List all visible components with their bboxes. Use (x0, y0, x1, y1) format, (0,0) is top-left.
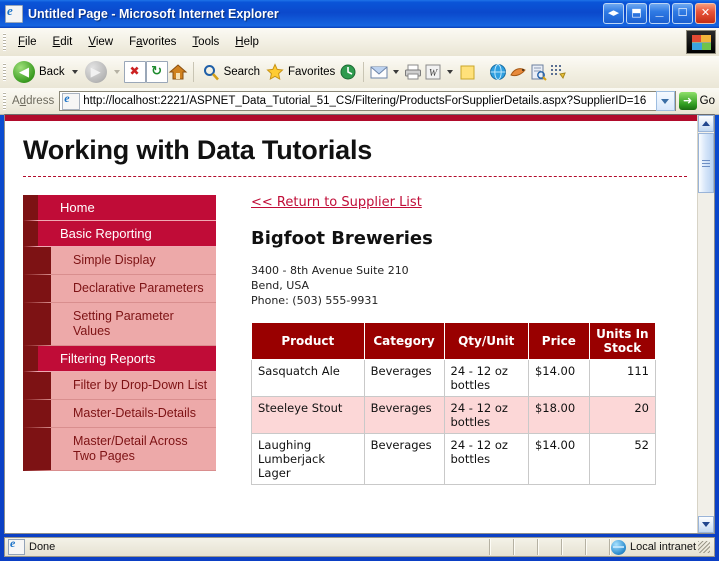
products-table-head: Product Category Qty/Unit Price Units In… (252, 323, 656, 360)
supplier-name-heading: Bigfoot Breweries (251, 228, 656, 249)
sidebar-item-setting-parameter-values[interactable]: Setting Parameter Values (23, 303, 216, 346)
products-table-body: Sasquatch Ale Beverages 24 - 12 oz bottl… (252, 360, 656, 485)
status-bar: Done Local intranet (4, 537, 715, 557)
address-input[interactable]: http://localhost:2221/ASPNET_Data_Tutori… (59, 91, 675, 111)
sidebar-item-master-detail-across-two-pages[interactable]: Master/Detail Across Two Pages (23, 428, 216, 471)
sidebar-item-master-details-details[interactable]: Master-Details-Details (23, 400, 216, 428)
history-button[interactable] (338, 62, 358, 82)
column-header-product: Product (252, 323, 365, 360)
thumb-grip-icon (702, 160, 710, 167)
page-top-accent-bar (5, 115, 699, 121)
cell-category: Beverages (364, 434, 444, 485)
resize-grip[interactable] (698, 541, 710, 553)
column-header-units-in-stock: Units In Stock (589, 323, 655, 360)
status-divider (585, 539, 587, 555)
cell-units: 20 (589, 397, 655, 434)
forward-button[interactable]: ▶ (82, 59, 110, 85)
supplier-city-country: Bend, USA (251, 278, 656, 293)
cell-qty-unit: 24 - 12 oz bottles (444, 397, 528, 434)
toolbar-separator (193, 62, 194, 82)
print-icon (403, 62, 423, 82)
return-to-supplier-list-link[interactable]: << Return to Supplier List (251, 195, 422, 210)
scrollbar-track[interactable] (698, 193, 714, 515)
menu-favorites[interactable]: Favorites (121, 33, 184, 51)
menu-bar: FFileile Edit View Favorites Tools Help (0, 28, 719, 57)
mail-dropdown-icon[interactable] (393, 70, 399, 74)
scroll-down-button[interactable] (698, 516, 714, 533)
search-icon (202, 63, 220, 81)
toolbar-grip-handle[interactable] (3, 63, 6, 81)
ie-page-icon (8, 539, 25, 555)
cell-product: Steeleye Stout (252, 397, 365, 434)
msn-globe-icon (488, 62, 508, 82)
status-divider (537, 539, 539, 555)
column-header-qty-unit: Qty/Unit (444, 323, 528, 360)
window-title: Untitled Page - Microsoft Internet Explo… (28, 7, 279, 21)
mail-button[interactable] (369, 62, 389, 82)
sidebar-navigation: Home Basic Reporting Simple Display Decl… (23, 195, 231, 485)
search-button-label: Search (224, 66, 260, 78)
standard-toolbar: ◀ Back ▶ ✖ ↻ Search (0, 56, 719, 89)
scrollbar-thumb[interactable] (698, 133, 714, 193)
sidebar-item-basic-reporting[interactable]: Basic Reporting (23, 221, 216, 247)
address-dropdown-button[interactable] (656, 91, 675, 111)
discuss-icon (548, 62, 568, 82)
mail-icon (369, 62, 389, 82)
favorites-button[interactable]: Favorites (263, 59, 338, 85)
title-bar: Untitled Page - Microsoft Internet Explo… (0, 0, 719, 28)
maximize-icon: ☐ (673, 4, 692, 23)
stop-icon: ✖ (125, 62, 145, 82)
back-icon: ◀ (13, 61, 35, 83)
research-button[interactable] (528, 62, 548, 82)
ie-animated-logo (686, 30, 716, 54)
notes-button[interactable] (457, 62, 477, 82)
minimize-icon: _ (650, 4, 669, 23)
cell-category: Beverages (364, 360, 444, 397)
forward-icon: ▶ (85, 61, 107, 83)
edit-word-icon: W (423, 62, 443, 82)
address-url-text: http://localhost:2221/ASPNET_Data_Tutori… (83, 95, 646, 107)
chevron-up-icon (702, 121, 710, 126)
research-icon (528, 62, 548, 82)
cell-units: 52 (589, 434, 655, 485)
edit-dropdown-icon[interactable] (447, 70, 453, 74)
close-icon: ✕ (696, 4, 715, 23)
back-button[interactable]: ◀ Back (10, 59, 68, 85)
messenger-button[interactable] (508, 62, 528, 82)
main-content: << Return to Supplier List Bigfoot Brewe… (251, 195, 656, 485)
cell-price: $18.00 (528, 397, 589, 434)
column-header-price: Price (528, 323, 589, 360)
cell-category: Beverages (364, 397, 444, 434)
address-bar: Address http://localhost:2221/ASPNET_Dat… (0, 88, 719, 115)
supplier-address-line: 3400 - 8th Avenue Suite 210 (251, 263, 656, 278)
vertical-scrollbar[interactable] (697, 115, 714, 533)
sidebar-item-declarative-parameters[interactable]: Declarative Parameters (23, 275, 216, 303)
history-icon (338, 62, 358, 82)
menu-help[interactable]: Help (227, 33, 267, 51)
sidebar-item-filter-by-drop-down-list[interactable]: Filter by Drop-Down List (23, 372, 216, 400)
maximize-button[interactable]: ☐ (672, 3, 693, 24)
home-icon (168, 62, 188, 82)
products-table-header-row: Product Category Qty/Unit Price Units In… (252, 323, 656, 360)
separate-window-button[interactable]: ⬒ (626, 3, 647, 24)
cell-units: 111 (589, 360, 655, 397)
chevron-down-icon (661, 99, 669, 104)
sidebar-item-home[interactable]: Home (23, 195, 216, 221)
stop-button[interactable]: ✖ (124, 61, 146, 83)
discuss-button[interactable] (548, 62, 568, 82)
ie-browser-window: Untitled Page - Microsoft Internet Explo… (0, 0, 719, 561)
separate-window-icon: ⬒ (627, 4, 646, 23)
forward-dropdown-icon[interactable] (114, 70, 120, 74)
ie-page-icon (5, 5, 23, 23)
menu-grip-handle[interactable] (3, 33, 6, 51)
refresh-button[interactable]: ↻ (146, 61, 168, 83)
web-page-content: Working with Data Tutorials Home Basic R… (5, 115, 699, 533)
window-controls: ◂▸ ⬒ _ ☐ ✕ (603, 3, 716, 24)
back-dropdown-icon[interactable] (72, 70, 78, 74)
search-button[interactable]: Search (199, 59, 263, 85)
restore-group-button[interactable]: ◂▸ (603, 3, 624, 24)
cell-price: $14.00 (528, 434, 589, 485)
home-button[interactable] (168, 62, 188, 82)
table-row: Laughing Lumberjack Lager Beverages 24 -… (252, 434, 656, 485)
sidebar-item-simple-display[interactable]: Simple Display (23, 247, 216, 275)
back-button-label: Back (39, 66, 65, 78)
go-button[interactable]: ➜ Go (676, 92, 719, 110)
table-row: Steeleye Stout Beverages 24 - 12 oz bott… (252, 397, 656, 434)
cell-qty-unit: 24 - 12 oz bottles (444, 360, 528, 397)
restore-group-icon: ◂▸ (604, 4, 623, 23)
menu-file[interactable]: FFileile (10, 33, 45, 51)
supplier-phone: Phone: (503) 555-9931 (251, 293, 656, 308)
refresh-icon: ↻ (147, 62, 167, 82)
minimize-button[interactable]: _ (649, 3, 670, 24)
favorites-star-icon (266, 63, 284, 81)
page-title: Working with Data Tutorials (23, 135, 699, 166)
favorites-button-label: Favorites (288, 66, 335, 78)
products-table: Product Category Qty/Unit Price Units In… (251, 322, 656, 485)
address-label: Address (12, 95, 54, 107)
messenger-icon (508, 62, 528, 82)
edit-word-button[interactable]: W (423, 62, 443, 82)
address-grip-handle[interactable] (3, 92, 6, 110)
status-divider (513, 539, 515, 555)
chevron-down-icon (702, 522, 710, 527)
notes-icon (457, 62, 477, 82)
sidebar-item-filtering-reports[interactable]: Filtering Reports (23, 346, 216, 372)
page-icon (62, 93, 80, 110)
column-header-category: Category (364, 323, 444, 360)
go-arrow-icon: ➜ (679, 92, 697, 110)
status-divider (561, 539, 563, 555)
toolbar-separator-2 (363, 62, 364, 82)
cell-price: $14.00 (528, 360, 589, 397)
print-button[interactable] (403, 62, 423, 82)
menu-view[interactable]: View (80, 33, 121, 51)
zone-label: Local intranet (630, 541, 696, 553)
cell-qty-unit: 24 - 12 oz bottles (444, 434, 528, 485)
table-row: Sasquatch Ale Beverages 24 - 12 oz bottl… (252, 360, 656, 397)
page-body: Home Basic Reporting Simple Display Decl… (5, 177, 699, 485)
menu-edit[interactable]: Edit (45, 33, 81, 51)
status-divider (489, 539, 491, 555)
status-text: Done (29, 541, 55, 553)
msn-button[interactable] (488, 62, 508, 82)
menu-tools[interactable]: Tools (184, 33, 227, 51)
security-zone[interactable]: Local intranet (611, 540, 714, 555)
toolbar-gap (482, 62, 483, 82)
go-button-label: Go (700, 95, 715, 107)
cell-product: Laughing Lumberjack Lager (252, 434, 365, 485)
close-button[interactable]: ✕ (695, 3, 716, 24)
scroll-up-button[interactable] (698, 115, 714, 132)
browser-viewport: Working with Data Tutorials Home Basic R… (4, 114, 715, 534)
cell-product: Sasquatch Ale (252, 360, 365, 397)
globe-icon (611, 540, 626, 555)
